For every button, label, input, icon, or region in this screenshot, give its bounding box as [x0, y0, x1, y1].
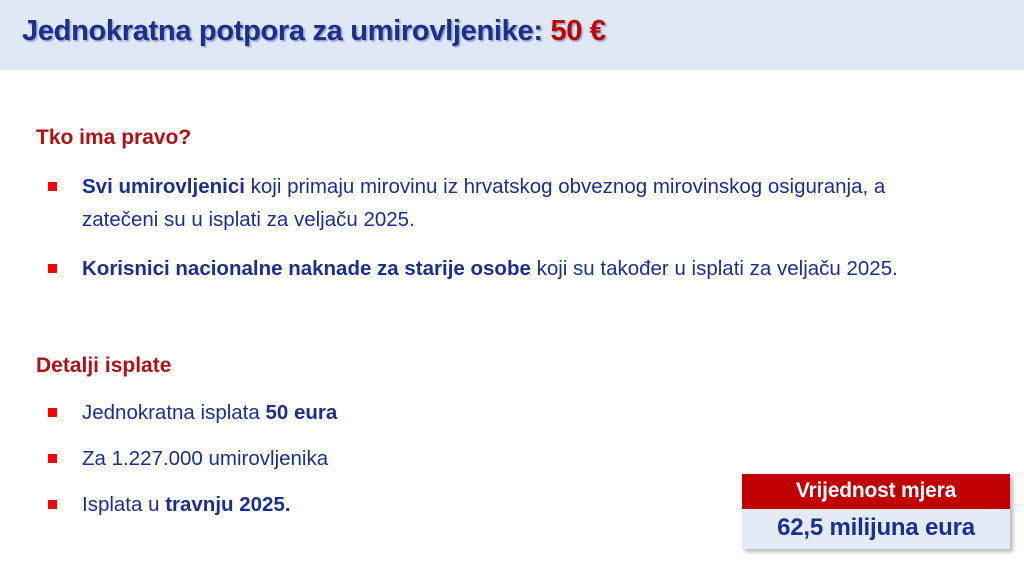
page-title: Jednokratna potpora za umirovljenike: 50…: [22, 15, 606, 48]
bullet-square-icon: [48, 182, 57, 191]
payment-details-bullet-list: Jednokratna isplata 50 eura Za 1.227.000…: [36, 396, 656, 534]
bullet-square-icon: [48, 500, 57, 509]
bullet-square-icon: [48, 264, 57, 273]
section-heading-payment-details: Detalji isplate: [36, 354, 171, 378]
list-item-text: Korisnici nacionalne naknade za starije …: [82, 257, 898, 280]
list-item-bold-tail: 50 eura: [265, 401, 337, 424]
list-item: Za 1.227.000 umirovljenika: [36, 442, 656, 475]
measure-value-box-amount: 62,5 milijuna eura: [742, 509, 1010, 549]
list-item-text: Jednokratna isplata 50 eura: [82, 401, 337, 424]
list-item-bold-lead: Svi umirovljenici: [82, 175, 245, 198]
section-heading-eligibility: Tko ima pravo?: [36, 126, 191, 150]
list-item-bold-tail: travnju 2025.: [165, 493, 290, 516]
list-item-text: Za 1.227.000 umirovljenika: [82, 447, 328, 470]
measure-value-box: Vrijednost mjera 62,5 milijuna eura: [742, 474, 1010, 549]
measure-value-box-header: Vrijednost mjera: [742, 474, 1010, 509]
list-item-text: Svi umirovljenici koji primaju mirovinu …: [82, 175, 885, 231]
list-item: Isplata u travnju 2025.: [36, 488, 656, 521]
list-item-text: Isplata u travnju 2025.: [82, 493, 291, 516]
list-item: Svi umirovljenici koji primaju mirovinu …: [36, 170, 936, 236]
list-item-lead: Jednokratna isplata: [82, 401, 265, 424]
bullet-square-icon: [48, 454, 57, 463]
page-title-main: Jednokratna potpora za umirovljenike:: [22, 15, 550, 47]
list-item: Jednokratna isplata 50 eura: [36, 396, 656, 429]
slide-title-band: Jednokratna potpora za umirovljenike: 50…: [0, 0, 1024, 70]
list-item: Korisnici nacionalne naknade za starije …: [36, 252, 936, 285]
bullet-square-icon: [48, 408, 57, 417]
list-item-bold-lead: Korisnici nacionalne naknade za starije …: [82, 257, 531, 280]
list-item-rest: koji su također u isplati za veljaču 202…: [531, 257, 898, 280]
list-item-lead: Za 1.227.000 umirovljenika: [82, 447, 328, 470]
page-title-amount: 50 €: [550, 15, 605, 47]
list-item-lead: Isplata u: [82, 493, 165, 516]
eligibility-bullet-list: Svi umirovljenici koji primaju mirovinu …: [36, 170, 936, 301]
